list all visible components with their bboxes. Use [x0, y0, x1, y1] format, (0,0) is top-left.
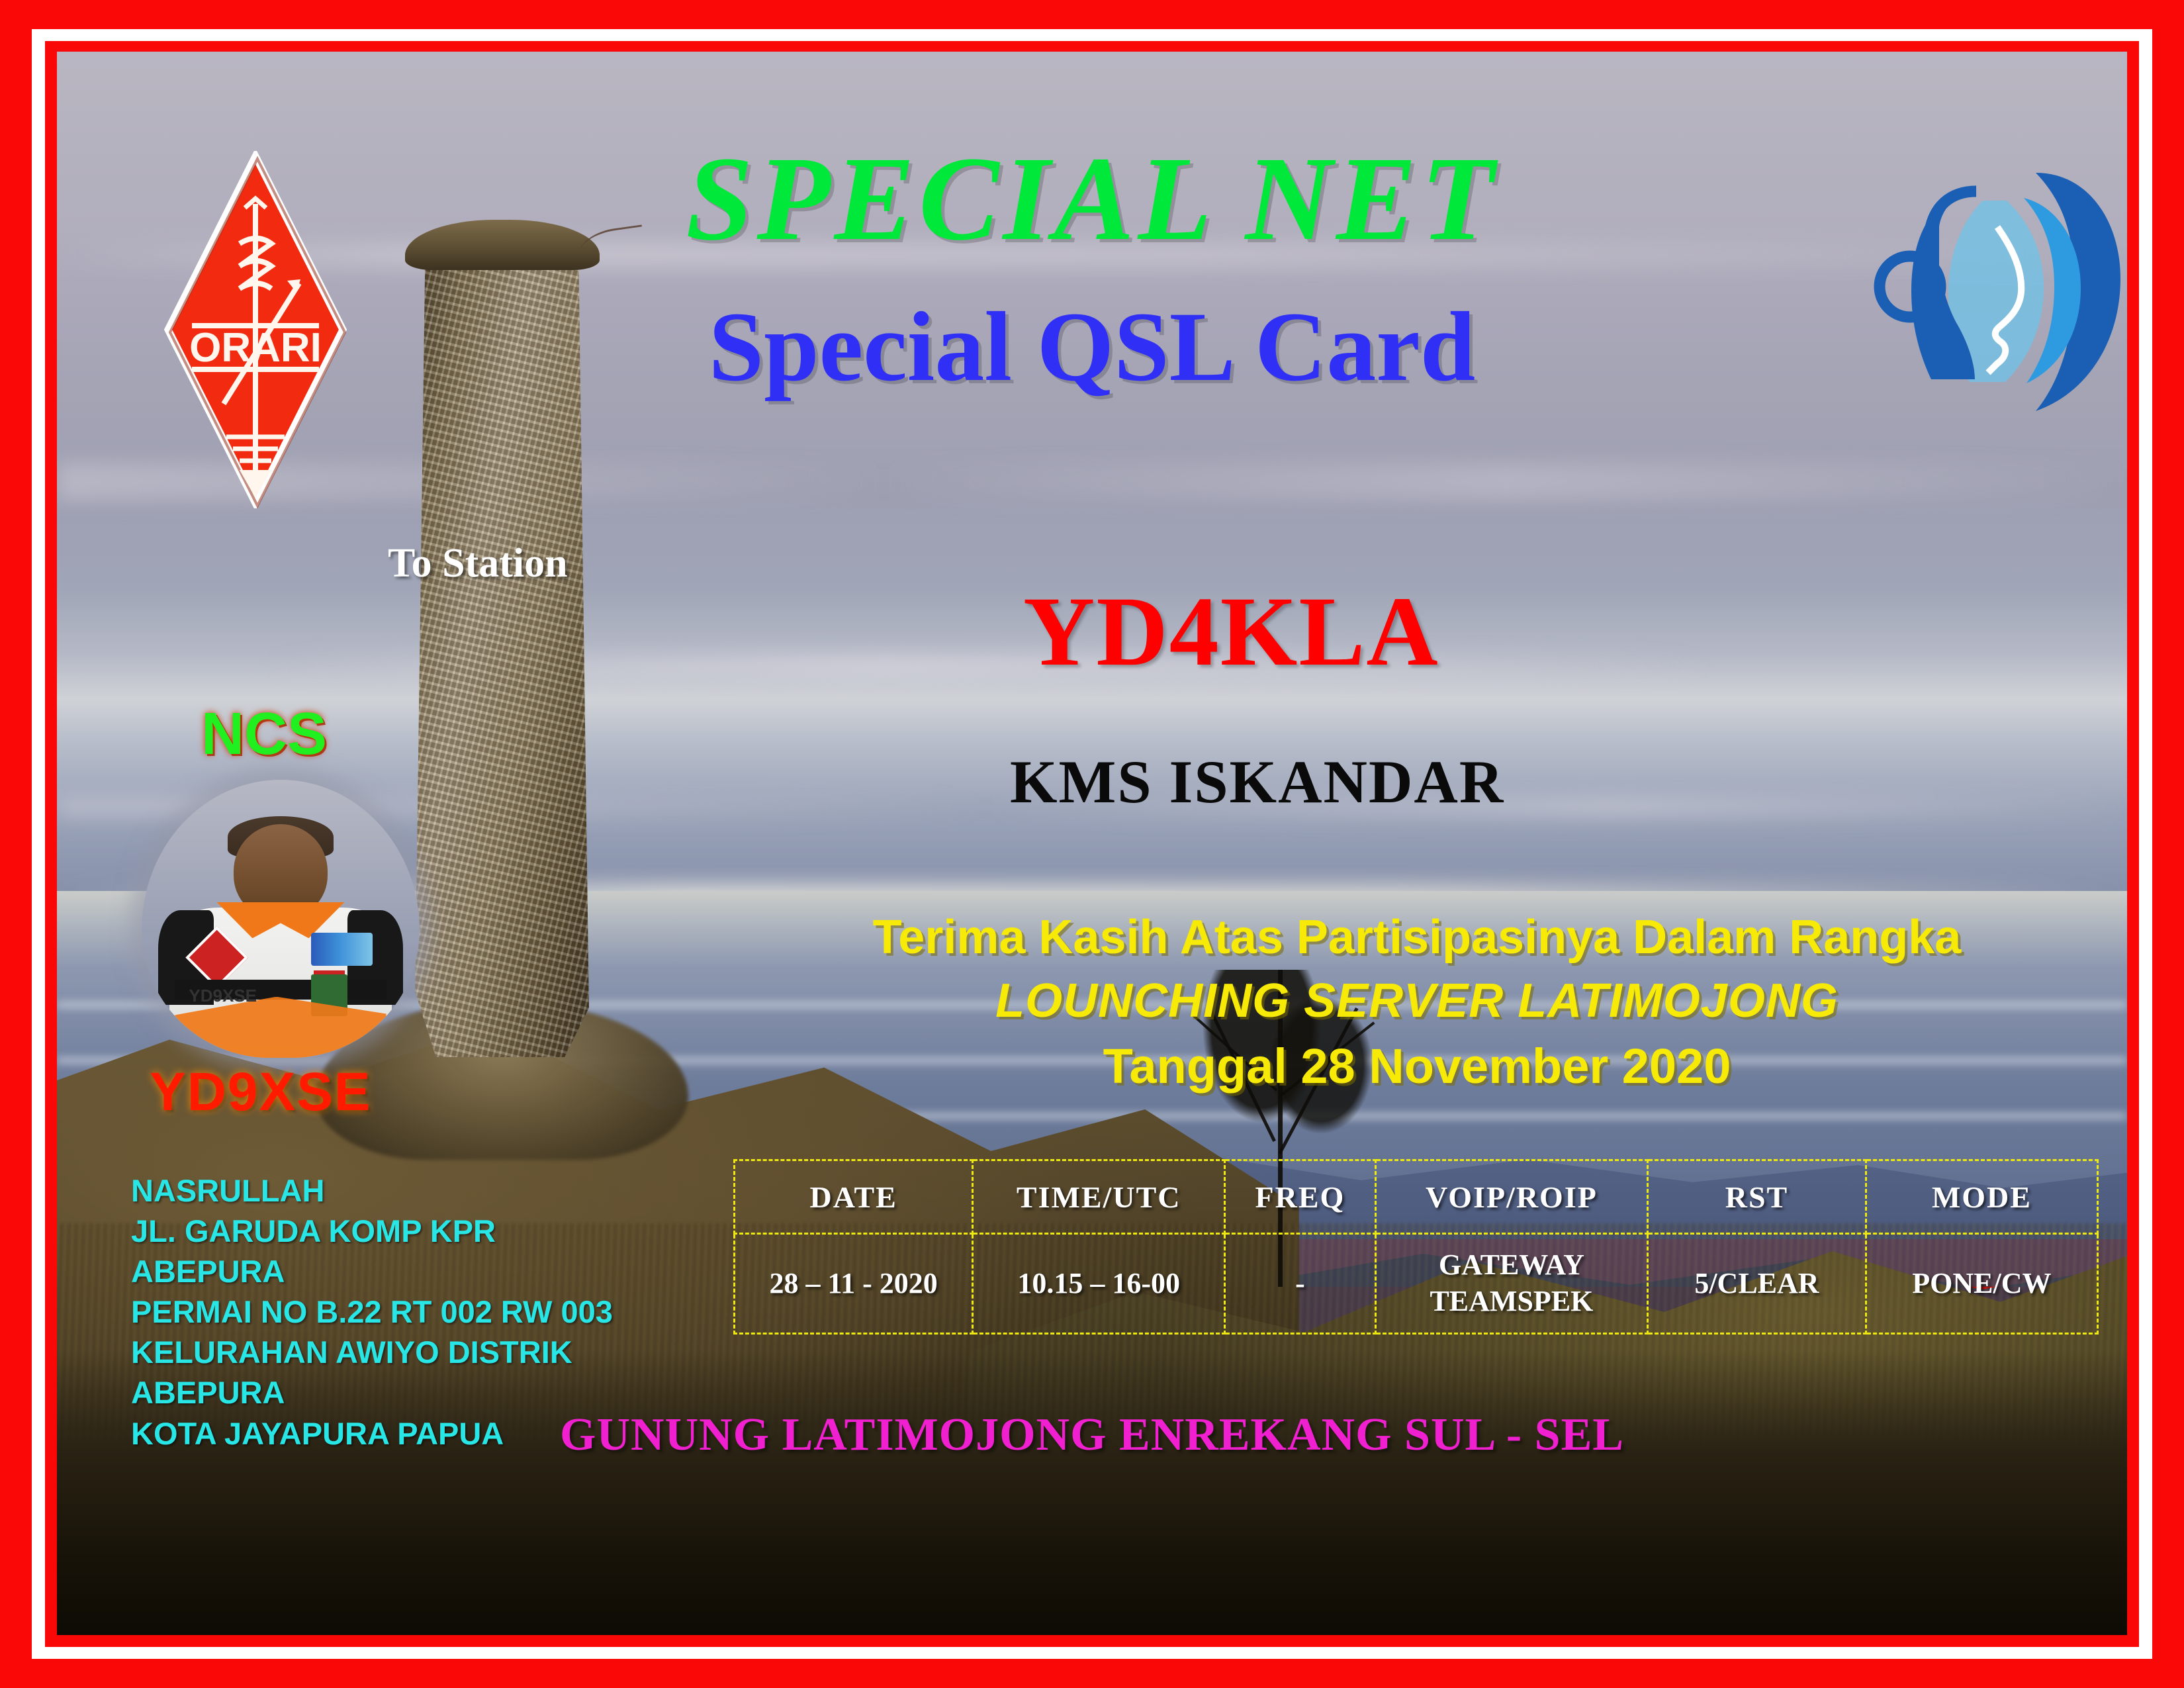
event-line-2: LOUNCHING SERVER LATIMOJONG — [805, 969, 2029, 1033]
qsl-card: ORARI SPECIAL NET Special QSL Card To St… — [0, 0, 2184, 1688]
address-line: ABEPURA — [131, 1251, 613, 1291]
footer-web-address: Address : amatir.latimojong.com — [1314, 1634, 1983, 1635]
photo-shirt-callsign: YD9XSE — [189, 986, 257, 1006]
cell-voip: GATEWAY TEAMSPEK — [1375, 1234, 1647, 1334]
cloud-band — [57, 463, 2127, 500]
cell-mode: PONE/CW — [1866, 1234, 2097, 1334]
ncs-callsign: YD9XSE — [150, 1061, 372, 1123]
address-line: ABEPURA — [131, 1372, 613, 1413]
event-text-block: Terima Kasih Atas Partisipasinya Dalam R… — [805, 906, 2029, 1099]
cell-date: 28 – 11 - 2020 — [735, 1234, 973, 1334]
table-row: 28 – 11 - 2020 10.15 – 16-00 - GATEWAY T… — [735, 1234, 2098, 1334]
qso-log-table: DATE TIME/UTC FREQ VOIP/ROIP RST MODE 28… — [733, 1159, 2099, 1335]
to-station-label: To Station — [388, 540, 568, 587]
address-line: KELURAHAN AWIYO DISTRIK — [131, 1332, 613, 1372]
cell-rst: 5/CLEAR — [1648, 1234, 1866, 1334]
column-header-freq: FREQ — [1225, 1160, 1376, 1234]
club-motto: "AMATIR RADIO ADALAH PROGRESIVE" — [136, 1634, 1092, 1635]
column-header-voip: VOIP/ROIP — [1375, 1160, 1647, 1234]
ncs-label: NCS — [201, 700, 327, 769]
address-line: NASRULLAH — [131, 1170, 613, 1211]
address-line: PERMAI NO B.22 RT 002 RW 003 — [131, 1291, 613, 1332]
ncs-operator-photo: YD9XSE — [142, 780, 420, 1058]
station-callsign: YD4KLA — [1023, 575, 1439, 688]
photo-club-logo-patch — [311, 933, 372, 966]
event-line-3: Tanggal 28 November 2020 — [805, 1033, 2029, 1099]
table-header-row: DATE TIME/UTC FREQ VOIP/ROIP RST MODE — [735, 1160, 2098, 1234]
operator-name: KMS ISKANDAR — [1010, 747, 1504, 817]
cell-freq: - — [1225, 1234, 1376, 1334]
card-subtitle: Special QSL Card — [57, 290, 2127, 404]
page-title: SPECIAL NET — [57, 130, 2127, 268]
card-photo-background: ORARI SPECIAL NET Special QSL Card To St… — [57, 52, 2127, 1635]
column-header-rst: RST — [1648, 1160, 1866, 1234]
column-header-time: TIME/UTC — [973, 1160, 1225, 1234]
address-line: JL. GARUDA KOMP KPR — [131, 1211, 613, 1251]
column-header-mode: MODE — [1866, 1160, 2097, 1234]
location-line: GUNUNG LATIMOJONG ENREKANG SUL - SEL — [57, 1409, 2127, 1462]
event-line-1: Terima Kasih Atas Partisipasinya Dalam R… — [805, 906, 2029, 969]
column-header-date: DATE — [735, 1160, 973, 1234]
cell-time: 10.15 – 16-00 — [973, 1234, 1225, 1334]
